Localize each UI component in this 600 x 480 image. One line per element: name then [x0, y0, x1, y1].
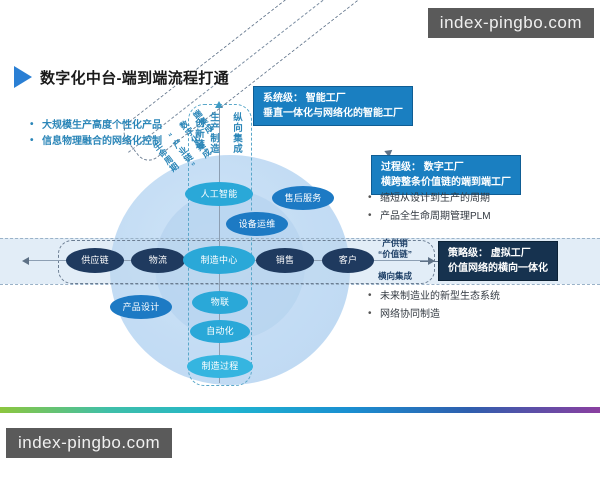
label-horizontal-integration: 横向集成: [356, 271, 434, 282]
strategy-bullet-item: 未来制造业的新型生态系统: [368, 288, 500, 306]
left-bullet-item: 大规模生产高度个性化产品: [30, 118, 162, 134]
page-title: 数字化中台-端到端流程打通: [14, 66, 229, 88]
watermark-bottom-left: index-pingbo.com: [6, 428, 172, 458]
banner-process-line1: 过程级： 数字工厂: [381, 160, 511, 175]
process-bullet-list: 缩短从设计到生产的周期 产品全生命周期管理PLM: [368, 190, 491, 225]
node-manufacturing-process[interactable]: 制造过程: [187, 355, 253, 378]
node-supply-chain[interactable]: 供应链: [66, 248, 124, 273]
strategy-bullet-item: 网络协同制造: [368, 306, 500, 324]
banner-system-line1: 系统级： 智能工厂: [263, 91, 403, 106]
horizontal-band-top-divider: [0, 238, 600, 239]
banner-strategy-level: 策略级： 虚拟工厂 价值网络的横向一体化: [438, 241, 558, 281]
process-bullet-item: 产品全生命周期管理PLM: [368, 208, 491, 226]
slide-canvas: index-pingbo.com index-pingbo.com 数字化中台-…: [0, 0, 600, 480]
vertical-label-vertical-integration: 纵向集成: [229, 112, 243, 154]
node-manufacturing-center[interactable]: 制造中心: [183, 246, 255, 274]
banner-strategy-line1: 策略级： 虚拟工厂: [448, 246, 548, 261]
node-product-design[interactable]: 产品设计: [110, 295, 172, 319]
strategy-bullet-list: 未来制造业的新型生态系统 网络协同制造: [368, 288, 500, 323]
page-title-text: 数字化中台-端到端流程打通: [40, 67, 229, 88]
banner-system-level: 系统级： 智能工厂 垂直一体化与网络化的智能工厂: [253, 86, 413, 126]
node-sales[interactable]: 销售: [256, 248, 314, 273]
node-logistics[interactable]: 物流: [131, 248, 185, 273]
process-bullet-item: 缩短从设计到生产的周期: [368, 190, 491, 208]
banner-strategy-line2: 价值网络的横向一体化: [448, 261, 548, 276]
label-value-chain: “价值链”: [356, 249, 434, 260]
node-after-sales-service[interactable]: 售后服务: [272, 186, 334, 210]
label-production-supply-sales: 产供销: [356, 238, 434, 249]
node-equipment-maintenance[interactable]: 设备运维: [226, 212, 288, 236]
node-iot[interactable]: 物联: [192, 291, 248, 314]
left-bullet-item: 信息物理融合的网络化控制: [30, 134, 162, 150]
watermark-top-right: index-pingbo.com: [428, 8, 594, 38]
node-automation[interactable]: 自动化: [190, 320, 250, 343]
horizontal-band-bottom-divider: [0, 284, 600, 285]
left-bullet-list: 大规模生产高度个性化产品 信息物理融合的网络化控制: [30, 118, 162, 149]
banner-system-line2: 垂直一体化与网络化的智能工厂: [263, 106, 403, 121]
banner-process-line2: 横跨整条价值链的端到端工厂: [381, 175, 511, 190]
node-artificial-intelligence[interactable]: 人工智能: [185, 182, 253, 206]
horizontal-arrow-left-icon: [22, 257, 29, 265]
banner-process-level: 过程级： 数字工厂 横跨整条价值链的端到端工厂: [371, 155, 521, 195]
bottom-gradient-bar: [0, 407, 600, 413]
triangle-right-icon: [14, 66, 32, 88]
